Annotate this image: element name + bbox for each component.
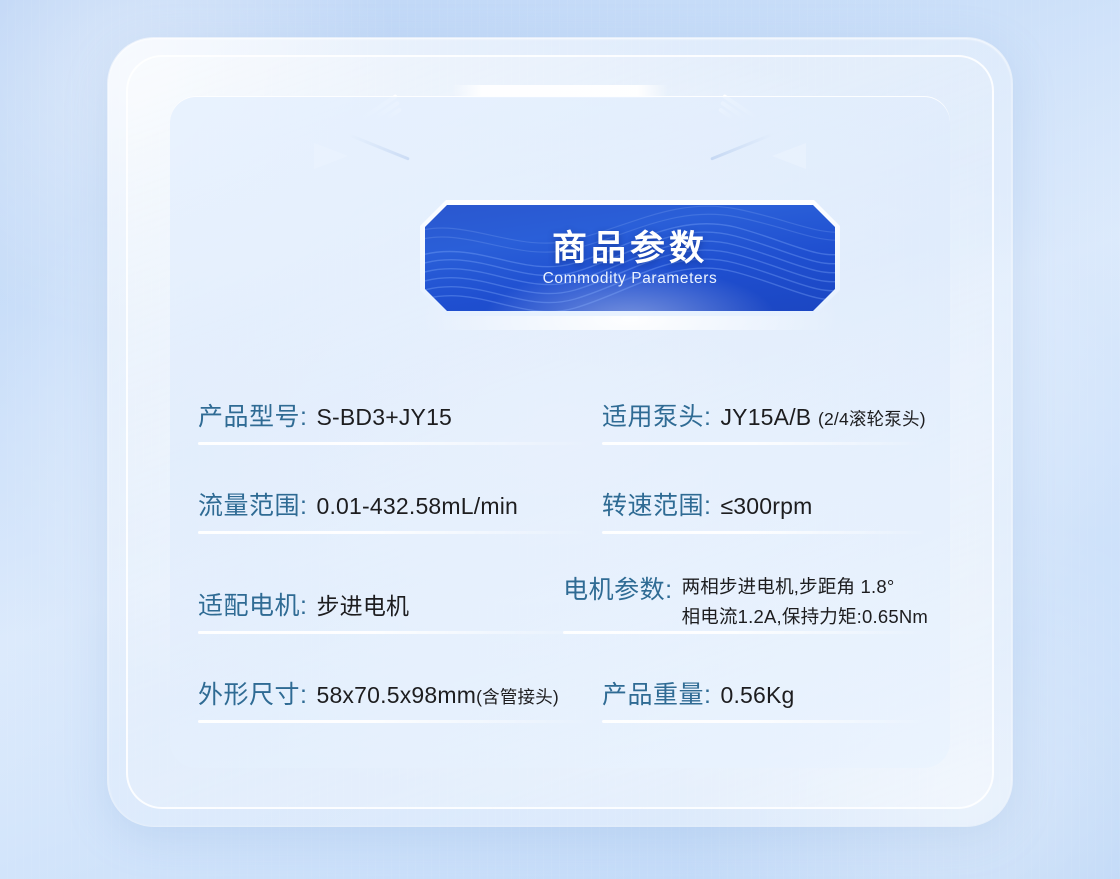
spec-value: 58x70.5x98mm(含管接头) [316,682,559,709]
spec-value: 0.01-432.58mL/min [316,493,518,520]
spec-cell-dimensions: 外形尺寸: 58x70.5x98mm(含管接头) [198,675,602,723]
spec-row: 流量范围: 0.01-432.58mL/min 转速范围: ≤300rpm [198,445,928,534]
spec-label: 适配电机: [198,586,307,622]
spec-value: JY15A/B (2/4滚轮泵头) [720,404,925,431]
spec-value-line-1: 两相步进电机,步距角 1.8° [682,574,928,600]
spec-cell-product-model: 产品型号: S-BD3+JY15 [198,397,602,445]
spec-label: 转速范围: [602,486,711,522]
specification-table: 产品型号: S-BD3+JY15 适用泵头: JY15A/B (2/4滚轮泵头) [198,356,928,768]
spec-value: ≤300rpm [720,493,812,520]
spec-label: 适用泵头: [602,397,711,433]
spec-label: 产品型号: [198,397,307,433]
spec-value: 0-40℃，相对湿度<80% [316,765,565,768]
spec-cell-motor-type: 适配电机: 步进电机 [198,586,563,634]
spec-label: 电机参数: [563,570,672,606]
spec-row: 产品型号: S-BD3+JY15 适用泵头: JY15A/B (2/4滚轮泵头) [198,356,928,445]
banner-text-group: 商品参数 Commodity Parameters [425,205,835,311]
spec-card-frame: 商品参数 Commodity Parameters 产品型号: S-BD3+JY… [126,55,994,809]
spec-cell-flow-range: 流量范围: 0.01-432.58mL/min [198,486,602,534]
spec-value-line-2: 相电流1.2A,保持力矩:0.65Nm [682,604,928,630]
spec-value: 0.56Kg [720,682,794,709]
banner-panel: 商品参数 Commodity Parameters [425,205,835,311]
spec-cell-applicable-hose: 适用软管: 14# 19# 16# 25# 17# [588,764,928,768]
spec-cell-motor-parameters: 电机参数: 两相步进电机,步距角 1.8° 相电流1.2A,保持力矩:0.65N… [563,566,928,634]
spec-label: 工作环境: [198,764,307,768]
banner-title-en: Commodity Parameters [543,270,718,287]
spec-cell-weight: 产品重量: 0.56Kg [602,675,928,723]
commodity-parameters-banner: 商品参数 Commodity Parameters [420,200,840,316]
spec-label: 流量范围: [198,486,307,522]
spec-card-body: 商品参数 Commodity Parameters 产品型号: S-BD3+JY… [170,96,950,768]
spec-label: 产品重量: [602,675,711,711]
spec-row: 外形尺寸: 58x70.5x98mm(含管接头) 产品重量: 0.56Kg [198,634,928,723]
spec-value: S-BD3+JY15 [316,404,452,431]
spec-cell-working-environment: 工作环境: 0-40℃，相对湿度<80% [198,764,588,768]
spec-label: 外形尺寸: [198,675,307,711]
banner-title-cn: 商品参数 [552,229,708,268]
spec-value: 两相步进电机,步距角 1.8° 相电流1.2A,保持力矩:0.65Nm [682,574,928,630]
spec-row: 工作环境: 0-40℃，相对湿度<80% 适用软管: 14# 19# 16# 2… [198,723,928,768]
spec-cell-speed-range: 转速范围: ≤300rpm [602,486,928,534]
spec-value: 步进电机 [316,587,409,621]
spec-card: 商品参数 Commodity Parameters 产品型号: S-BD3+JY… [108,38,1012,826]
spec-row: 适配电机: 步进电机 电机参数: 两相步进电机,步距角 1.8° 相电流1.2A… [198,534,928,634]
spec-label: 适用软管: [588,764,697,768]
spec-cell-pump-head: 适用泵头: JY15A/B (2/4滚轮泵头) [602,397,928,445]
